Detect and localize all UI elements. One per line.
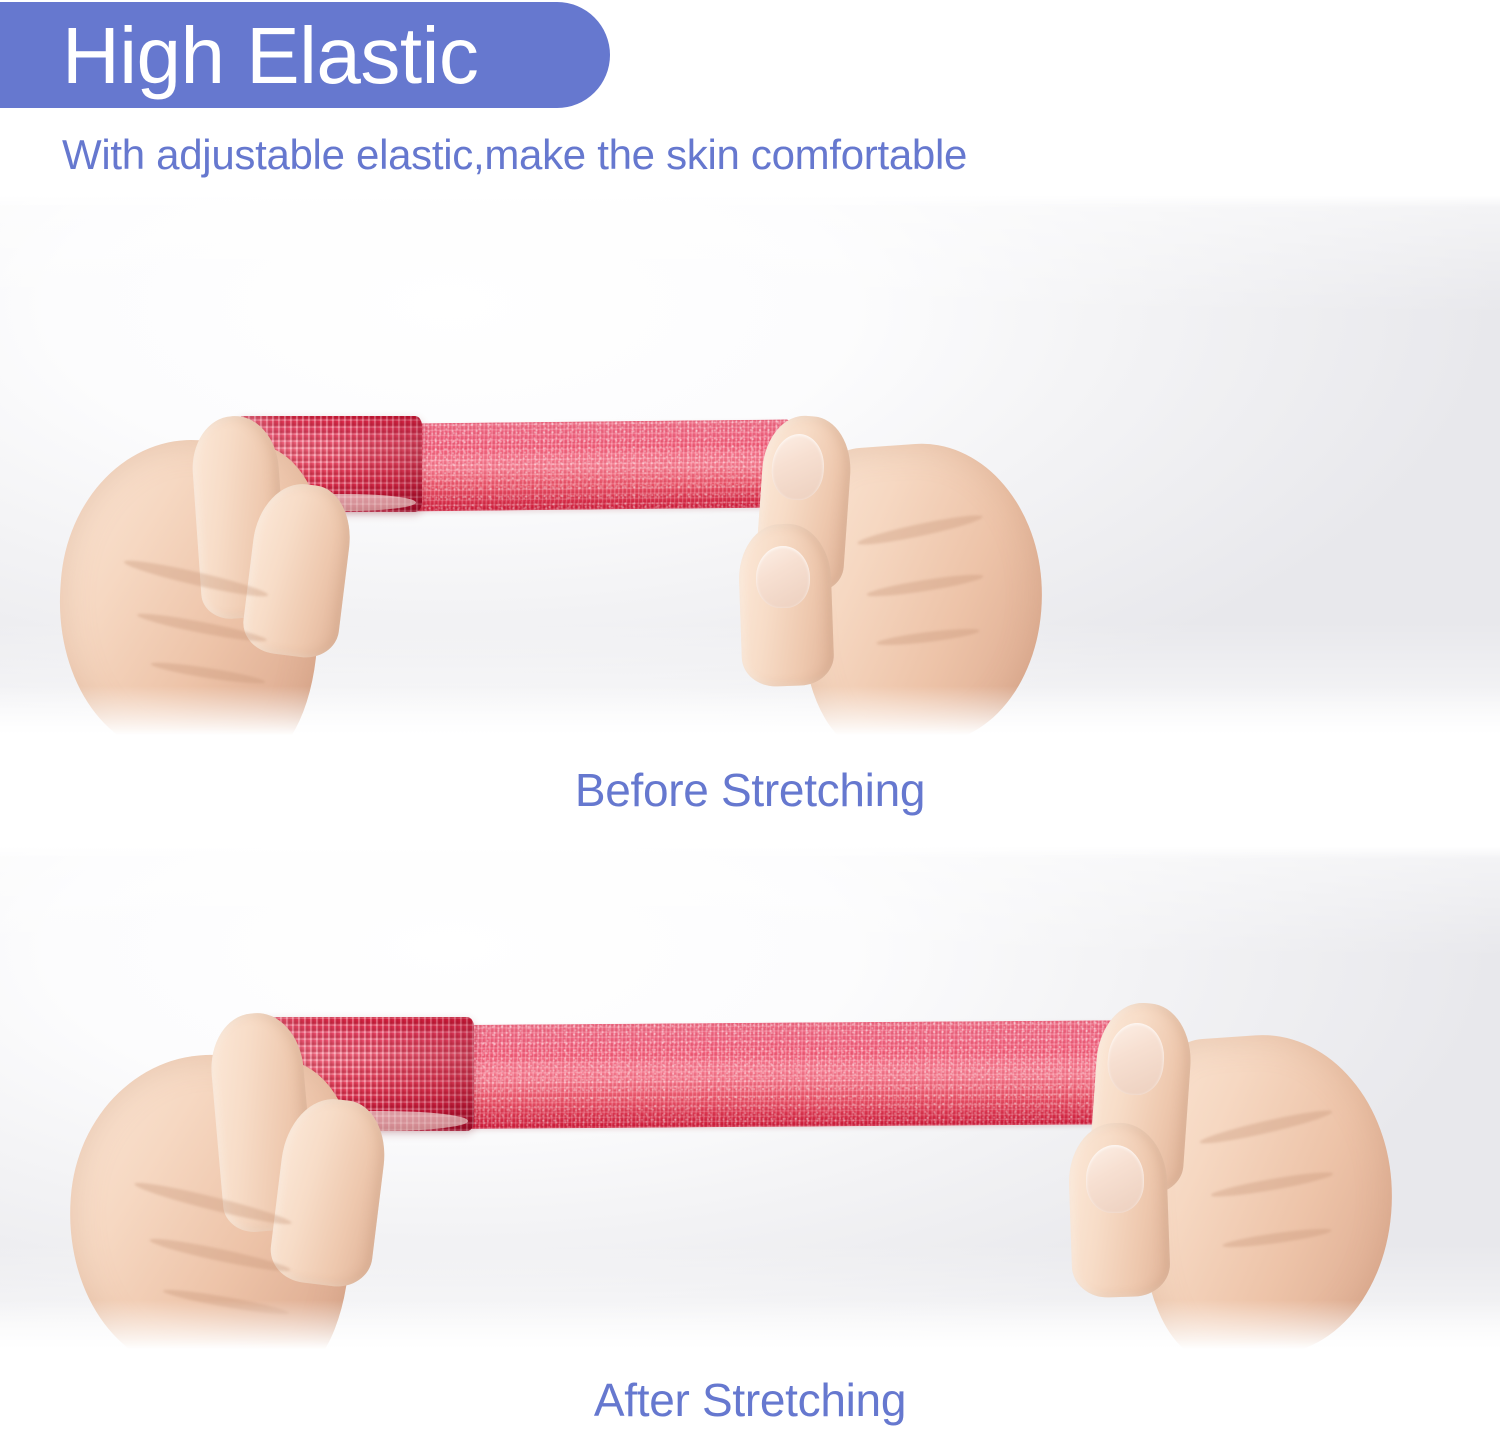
- photo-bottom-fade: [0, 1300, 1500, 1356]
- caption-before-stretching: Before Stretching: [0, 762, 1500, 818]
- header: High Elastic With adjustable elastic,mak…: [0, 0, 1500, 194]
- right-hand-middle-nail: [1086, 1145, 1144, 1213]
- photo-bottom-fade: [0, 686, 1500, 742]
- title-banner: High Elastic: [0, 2, 610, 108]
- caption-after-stretching: After Stretching: [0, 1372, 1500, 1428]
- right-hand-middle-nail: [756, 546, 810, 608]
- photo-top-fade: [0, 845, 1500, 859]
- photo-after-stretching: [0, 845, 1500, 1356]
- photo-before-stretching: [0, 194, 1500, 742]
- photo-top-fade: [0, 194, 1500, 208]
- page-title: High Elastic: [62, 8, 478, 104]
- subtitle: With adjustable elastic,make the skin co…: [62, 129, 967, 181]
